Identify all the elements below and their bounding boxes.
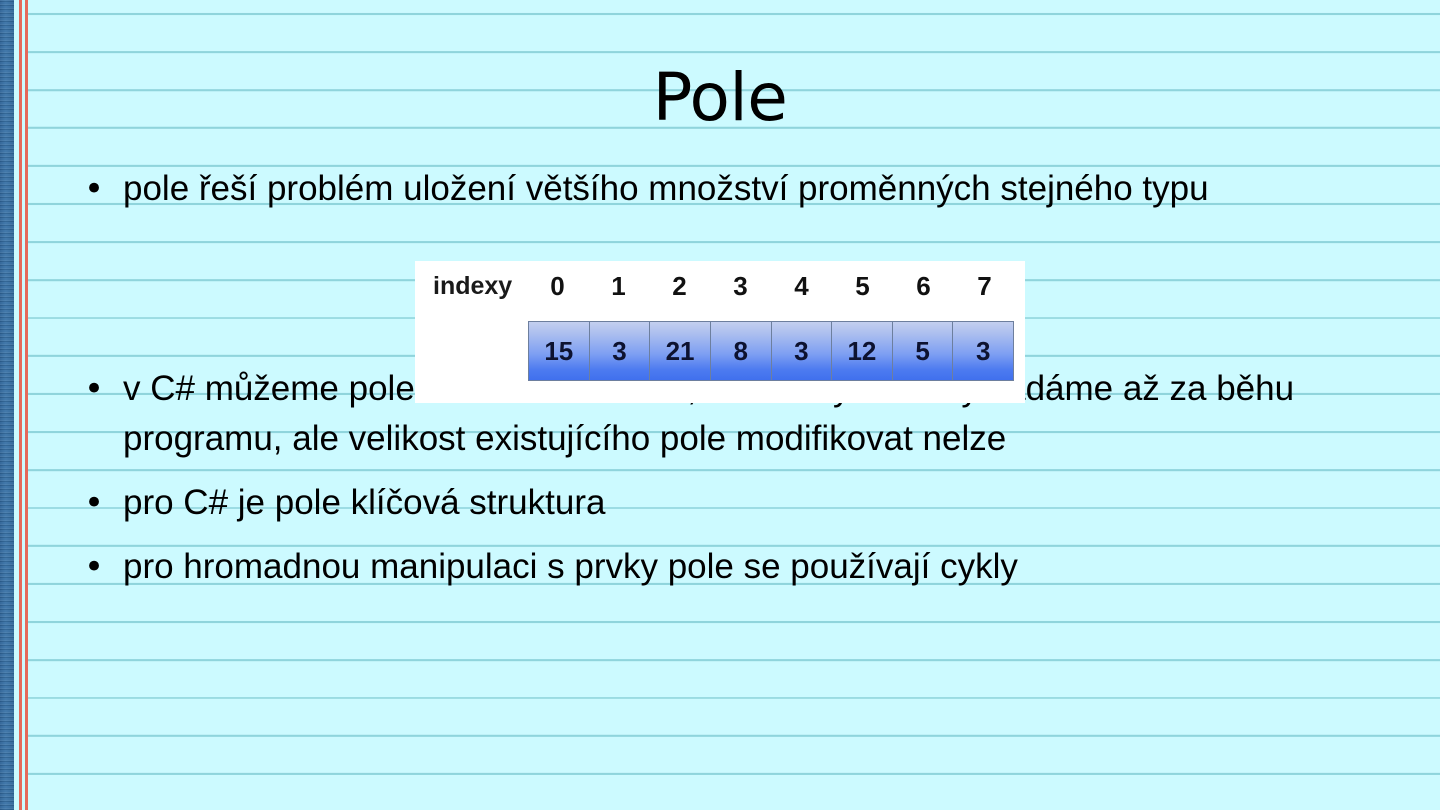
array-index-cell: 2 [649, 269, 710, 303]
array-index-cell: 5 [832, 269, 893, 303]
bullet-marker-icon: • [78, 364, 123, 414]
array-value-cell: 3 [953, 322, 1013, 380]
array-index-label: indexy [433, 269, 512, 303]
array-diagram-image: indexy 01234567 15321831253 [415, 261, 1025, 403]
array-value-cell: 15 [529, 322, 590, 380]
array-value-cell: 12 [832, 322, 893, 380]
array-index-cell: 7 [954, 269, 1015, 303]
bullet-spacer [78, 466, 1378, 478]
bullet-marker-icon: • [78, 542, 123, 592]
bullet-text-1: pole řeší problém uložení většího množst… [123, 164, 1378, 214]
bullet-spacer [78, 530, 1378, 542]
array-value-cell: 21 [650, 322, 711, 380]
array-value-row: 15321831253 [528, 321, 1014, 381]
bullet-text-4: pro hromadnou manipulaci s prvky pole se… [123, 542, 1378, 592]
slide-title: Pole [0, 62, 1440, 134]
bullet-marker-icon: • [78, 164, 123, 214]
array-value-cell: 3 [590, 322, 651, 380]
array-index-row: 01234567 [527, 269, 1015, 303]
bullet-item-4: • pro hromadnou manipulaci s prvky pole … [78, 542, 1378, 592]
bullet-item-3: • pro C# je pole klíčová struktura [78, 478, 1378, 528]
array-index-cell: 4 [771, 269, 832, 303]
array-index-cell: 3 [710, 269, 771, 303]
array-value-cell: 3 [772, 322, 833, 380]
array-index-cell: 6 [893, 269, 954, 303]
array-value-cell: 8 [711, 322, 772, 380]
array-index-cell: 0 [527, 269, 588, 303]
bullet-item-1: • pole řeší problém uložení většího množ… [78, 164, 1378, 214]
array-value-cell: 5 [893, 322, 954, 380]
slide-canvas: Pole • pole řeší problém uložení většího… [0, 0, 1440, 810]
bullet-marker-icon: • [78, 478, 123, 528]
bullet-text-3: pro C# je pole klíčová struktura [123, 478, 1378, 528]
array-index-cell: 1 [588, 269, 649, 303]
